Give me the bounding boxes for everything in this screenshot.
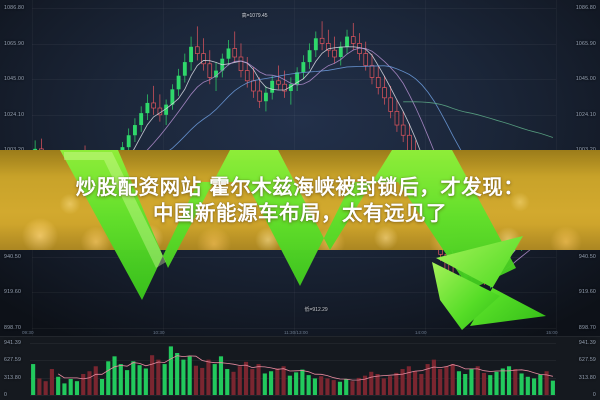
volume-bar	[451, 364, 455, 395]
volume-axis-label-left: 313.80	[4, 375, 21, 381]
volume-bar-series	[0, 337, 600, 400]
candle-body	[189, 47, 193, 62]
volume-bar	[519, 373, 523, 395]
volume-bar	[288, 376, 292, 395]
volume-bar	[344, 379, 348, 395]
volume-bar	[444, 366, 448, 395]
volume-axis-label-left: 0	[4, 392, 7, 398]
candle-body	[389, 98, 393, 112]
volume-bar	[501, 368, 505, 395]
candle-body	[177, 76, 181, 90]
time-axis-label: 09:30	[22, 330, 34, 335]
volume-bar	[313, 378, 317, 395]
candle-body	[127, 135, 131, 147]
volume-bar	[282, 366, 286, 395]
volume-bar	[181, 360, 185, 395]
volume-bar	[269, 371, 273, 395]
price-axis-label-right: 1086.80	[576, 5, 596, 11]
candle-body	[401, 125, 405, 135]
volume-bar	[488, 375, 492, 395]
candle-body	[270, 81, 274, 93]
volume-bar	[526, 377, 530, 395]
volume-bar	[244, 362, 248, 395]
volume-bar	[37, 378, 41, 395]
volume-bar	[219, 356, 223, 395]
volume-bar	[551, 381, 555, 395]
price-axis-label-right: 1065.90	[576, 41, 596, 47]
volume-bar	[438, 369, 442, 395]
volume-bar	[413, 371, 417, 395]
volume-bar	[213, 364, 217, 395]
volume-axis-label-left: 941.39	[4, 340, 21, 346]
candle-body	[139, 113, 143, 125]
volume-bar	[300, 370, 304, 395]
volume-bar	[307, 375, 311, 395]
volume-bar	[206, 360, 210, 395]
volume-bar	[482, 373, 486, 395]
volume-bar	[432, 360, 436, 395]
volume-bar	[150, 355, 154, 395]
price-axis-label-left: 940.50	[4, 254, 21, 260]
time-axis-label: 15:00	[546, 330, 558, 335]
time-axis-label: 10:30	[153, 330, 165, 335]
volume-bar	[31, 364, 35, 395]
candle-body	[233, 48, 237, 57]
candle-body	[183, 62, 187, 76]
volume-bar	[294, 372, 298, 395]
volume-bar	[476, 366, 480, 395]
price-axis-label-left: 1045.00	[4, 76, 24, 82]
candle-body	[464, 271, 468, 281]
candle-body	[364, 54, 368, 66]
stock-chart-banner-image: 1086.801065.901045.001024.101003.20982.3…	[0, 0, 600, 400]
volume-bar	[225, 369, 229, 395]
volume-bar	[144, 368, 148, 395]
volume-bar	[275, 368, 279, 395]
volume-bar	[106, 361, 110, 395]
volume-bar	[394, 373, 398, 395]
candle-body	[333, 50, 337, 57]
candle-body	[445, 254, 449, 274]
candle-body	[495, 256, 499, 268]
volume-bar	[231, 372, 235, 395]
volume-bar	[369, 372, 373, 395]
volume-bar	[256, 364, 260, 395]
price-axis-label-left: 1065.90	[4, 41, 24, 47]
candle-body	[252, 81, 256, 91]
volume-bar	[494, 372, 498, 395]
volume-bar	[50, 369, 54, 395]
gold-banner-background	[0, 150, 600, 250]
low-price-marker: 低=912.29	[304, 306, 327, 313]
candle-body	[395, 111, 399, 125]
volume-bar	[407, 366, 411, 395]
price-axis-label-left: 1086.80	[4, 5, 24, 11]
candle-body	[376, 77, 380, 87]
volume-bar	[319, 376, 323, 395]
volume-bar	[125, 370, 129, 395]
candle-body	[457, 282, 461, 296]
volume-bar	[175, 353, 179, 395]
volume-bar	[163, 364, 167, 395]
volume-bar	[325, 378, 329, 395]
volume-bar	[87, 371, 91, 395]
volume-bar	[119, 364, 123, 395]
candle-body	[345, 37, 349, 47]
volume-bar	[357, 378, 361, 395]
price-axis-label-left: 898.70	[4, 325, 21, 331]
time-axis-label: 14:00	[415, 330, 427, 335]
candle-body	[308, 50, 312, 62]
candle-body	[351, 37, 355, 44]
candle-body	[314, 38, 318, 50]
volume-bar	[62, 383, 66, 395]
candle-body	[476, 265, 480, 272]
volume-axis-label-left: 627.59	[4, 357, 21, 363]
volume-bar	[469, 369, 473, 395]
volume-bar	[338, 382, 342, 395]
candle-body	[370, 66, 374, 78]
candle-body	[470, 265, 474, 272]
price-axis-label-right: 1045.00	[576, 76, 596, 82]
volume-bar	[100, 379, 104, 395]
volume-bar	[169, 346, 173, 395]
volume-bar	[419, 374, 423, 395]
candle-body	[208, 64, 212, 78]
volume-axis-label-right: 627.59	[579, 357, 596, 363]
volume-axis-label-right: 0	[593, 392, 596, 398]
volume-axis-label-right: 941.39	[579, 340, 596, 346]
candle-body	[227, 48, 231, 58]
volume-axis-label-right: 313.80	[579, 375, 596, 381]
candle-body	[195, 47, 199, 54]
volume-bar	[81, 374, 85, 395]
volume-bar	[350, 381, 354, 395]
volume-bar	[263, 373, 267, 395]
candle-body	[264, 93, 268, 102]
candle-body	[133, 125, 137, 135]
volume-bar	[188, 356, 192, 395]
volume-bar	[538, 375, 542, 395]
volume-bar	[388, 376, 392, 395]
volume-bar	[69, 379, 73, 395]
volume-bar	[44, 381, 48, 395]
price-axis-label-left: 919.60	[4, 289, 21, 295]
price-axis-label-right: 1024.10	[576, 112, 596, 118]
volume-bar	[131, 361, 135, 395]
volume-bar	[138, 365, 142, 395]
price-axis-label-right: 898.70	[579, 325, 596, 331]
candle-body	[145, 103, 149, 113]
price-axis-label-right: 919.60	[579, 289, 596, 295]
volume-bar	[332, 380, 336, 395]
candle-body	[245, 71, 249, 81]
candle-body	[258, 91, 262, 101]
volume-bar	[194, 366, 198, 395]
volume-bar	[200, 368, 204, 395]
volume-bar	[250, 369, 254, 395]
volume-bar	[532, 378, 536, 395]
candle-body	[320, 38, 324, 43]
volume-bar	[382, 378, 386, 395]
volume-bar	[238, 366, 242, 395]
candle-body	[383, 88, 387, 98]
volume-bar	[94, 366, 98, 395]
volume-bar	[463, 374, 467, 395]
volume-bar	[56, 377, 60, 395]
volume-bar	[156, 360, 160, 395]
volume-bar	[513, 369, 517, 395]
volume-chart-panel: 941.39627.59313.800 941.39627.59313.800	[0, 336, 600, 400]
candle-body	[339, 47, 343, 57]
volume-bar	[457, 371, 461, 395]
price-axis-label-right: 940.50	[579, 254, 596, 260]
candle-body	[276, 81, 280, 84]
volume-bar	[375, 374, 379, 395]
volume-bar	[112, 356, 116, 395]
candle-body	[152, 103, 156, 108]
candle-body	[202, 54, 206, 64]
candle-body	[301, 62, 305, 72]
ma-line-ma60	[403, 102, 553, 138]
time-axis-label: 11:30/13:00	[284, 330, 308, 335]
price-axis-label-left: 1024.10	[4, 112, 24, 118]
candle-body	[239, 57, 243, 71]
volume-bar	[75, 381, 79, 395]
volume-bar	[401, 369, 405, 395]
candle-body	[451, 275, 455, 295]
high-price-marker: 高=1079.45	[242, 12, 268, 19]
